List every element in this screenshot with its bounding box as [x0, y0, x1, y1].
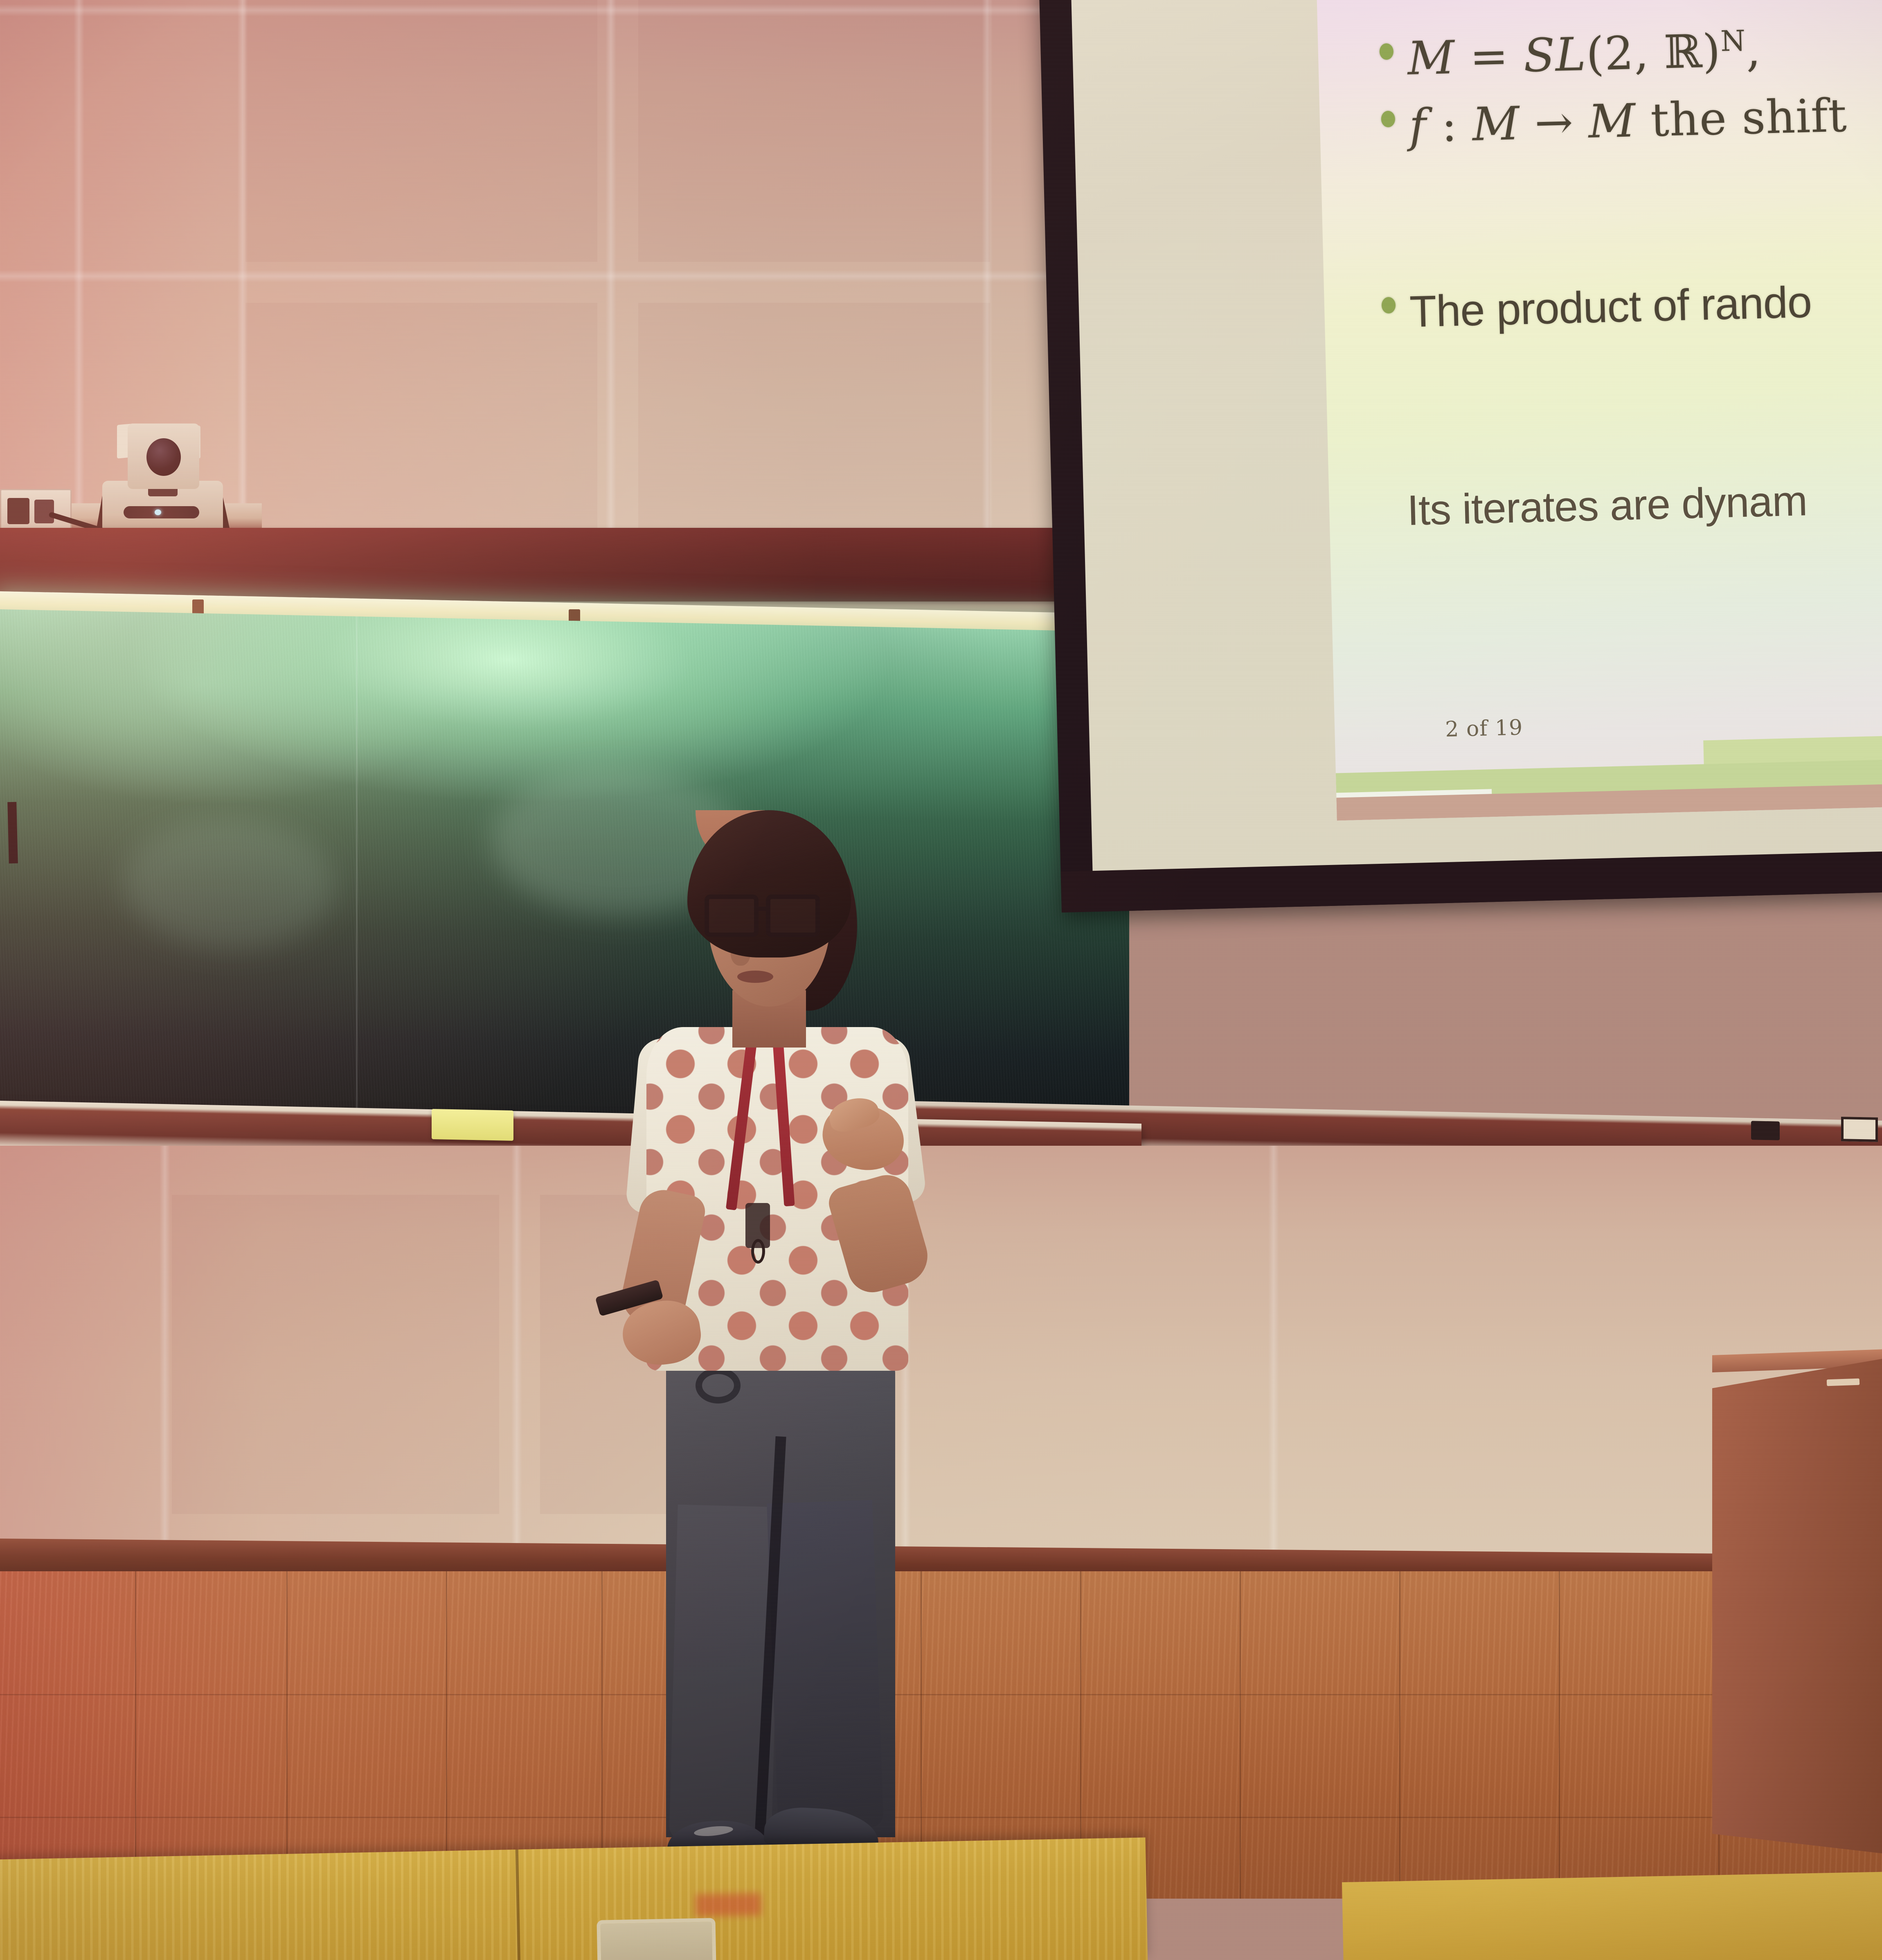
- slide-page-indicator: 2 of 19: [1445, 715, 1523, 742]
- wall-panel: [172, 1195, 499, 1514]
- panel-seam: [237, 0, 248, 573]
- panel-seam: [511, 1146, 522, 1575]
- wall-panel: [245, 0, 597, 262]
- panel-seam: [74, 0, 84, 573]
- plug-icon: [7, 498, 29, 524]
- chalkboard-seam: [356, 616, 358, 1120]
- chalkboard-eraser[interactable]: [432, 1109, 513, 1141]
- lens-right-icon: [766, 894, 820, 937]
- eyeglasses: [705, 894, 835, 940]
- lectern-slot: [1827, 1379, 1860, 1386]
- bullet-1-text: M = SL(2, ℝ)N,: [1407, 24, 1762, 86]
- glasses-bridge: [757, 907, 769, 911]
- bullet-dot-icon: [1381, 297, 1396, 314]
- ledge-object[interactable]: [1751, 1121, 1780, 1140]
- panel-seam: [982, 0, 993, 573]
- panel-seam: [160, 1146, 170, 1575]
- ledge-object[interactable]: [1841, 1117, 1878, 1142]
- panel-seam: [1268, 1146, 1279, 1575]
- desk-cable-port[interactable]: [597, 1918, 716, 1960]
- lens-left-icon: [705, 894, 759, 937]
- mouth: [737, 971, 773, 983]
- desk-grain: [0, 1837, 1148, 1960]
- chalkboard-assembly: [0, 591, 1129, 1131]
- presentation-slide: M = SL(2, ℝ)N, f : M → M the shift The p…: [1316, 0, 1882, 820]
- ptz-camera[interactable]: [102, 424, 223, 542]
- presenter: [593, 810, 945, 1858]
- slide-body-line: Its iterates are dynam: [1407, 477, 1808, 535]
- projection-screen-surface: M = SL(2, ℝ)N, f : M → M the shift The p…: [1071, 0, 1882, 872]
- camera-led-icon: [155, 509, 161, 515]
- desk-stain: [695, 1893, 761, 1916]
- front-desk-right[interactable]: [1342, 1871, 1882, 1960]
- lecture-hall-photo: M = SL(2, ℝ)N, f : M → M the shift The p…: [0, 0, 1882, 1960]
- slide-bullet-1: M = SL(2, ℝ)N,: [1379, 24, 1762, 86]
- lectern[interactable]: [1712, 1358, 1882, 1854]
- leg-right: [767, 1500, 884, 1831]
- screen-hanger: [7, 802, 18, 863]
- slide-bullet-3: The product of rando: [1381, 276, 1812, 338]
- bullet-3-text: The product of rando: [1409, 276, 1812, 337]
- projection-screen-frame: M = SL(2, ℝ)N, f : M → M the shift The p…: [1039, 0, 1882, 912]
- bullet-dot-icon: [1381, 111, 1395, 128]
- slide-bullet-2: f : M → M the shift: [1381, 89, 1848, 154]
- wall-panel: [638, 0, 990, 262]
- slide-content: M = SL(2, ℝ)N, f : M → M the shift The p…: [1316, 0, 1882, 820]
- camera-indicator-strip: [124, 506, 199, 518]
- bullet-dot-icon: [1379, 43, 1393, 60]
- plug-icon: [34, 500, 54, 523]
- panel-seam: [606, 0, 616, 573]
- lanyard-ring-icon: [751, 1239, 765, 1264]
- chalkboard-top-trim: [0, 528, 1141, 602]
- front-desk[interactable]: [0, 1837, 1148, 1960]
- belt-loop: [696, 1367, 741, 1404]
- bullet-2-text: f : M → M the shift: [1409, 89, 1848, 153]
- camera-lens-icon: [146, 438, 181, 476]
- chalkboard: [0, 609, 1129, 1135]
